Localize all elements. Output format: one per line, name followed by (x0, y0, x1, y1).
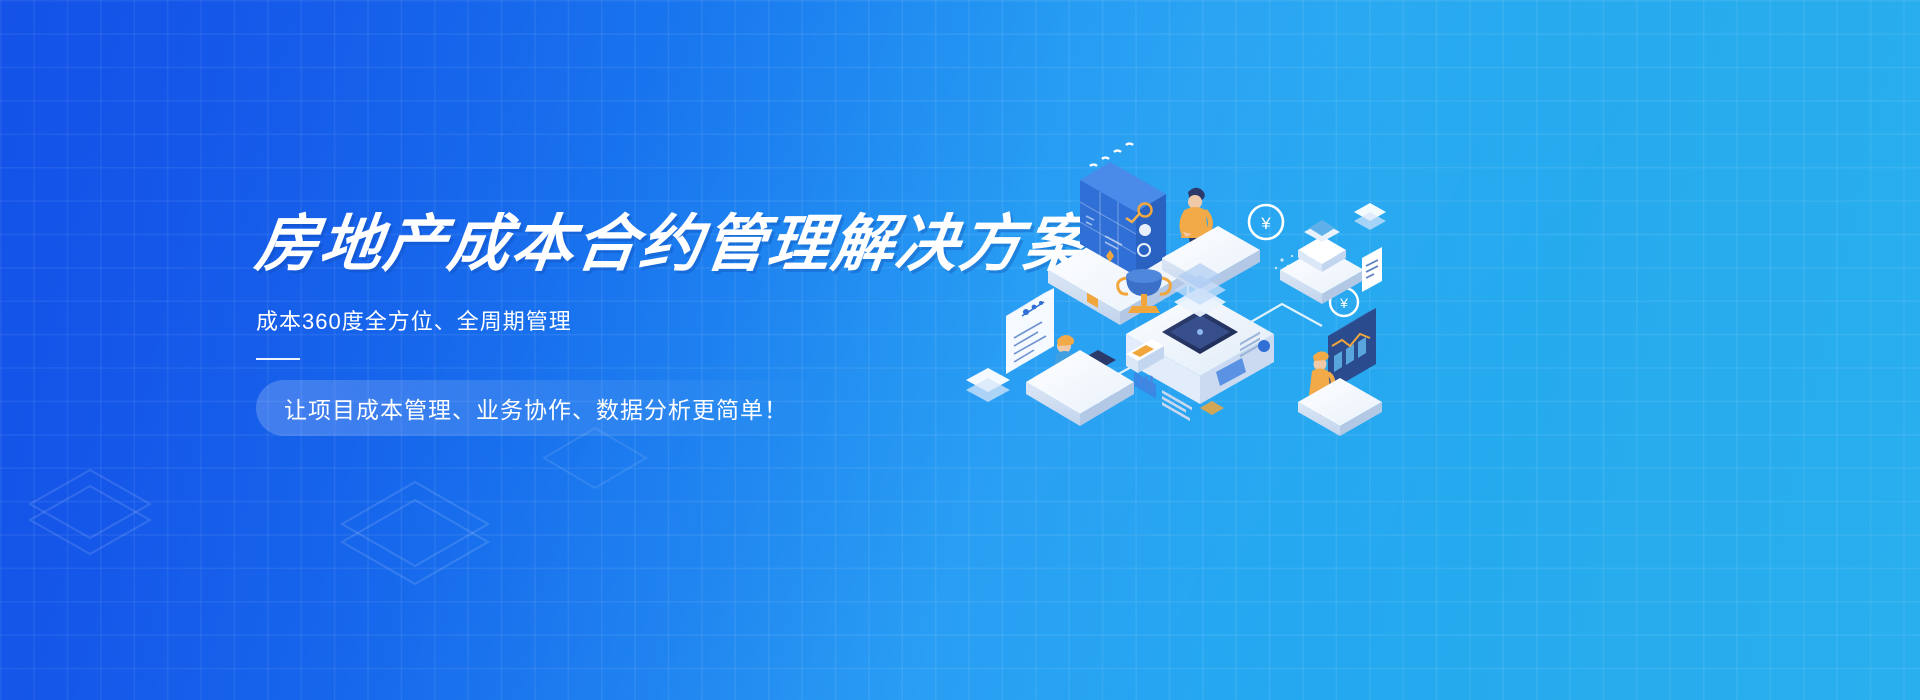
document-card (1362, 247, 1382, 292)
hero-illustration: ¥ ¥ ¥ (930, 150, 1400, 440)
plate-laptop-person (1026, 350, 1134, 426)
title-divider (256, 358, 300, 360)
page-title: 房地产成本合约管理解决方案 (252, 214, 1020, 276)
chart-screen (1328, 308, 1376, 392)
hero-banner: 房地产成本合约管理解决方案 成本360度全方位、全周期管理 让项目成本管理、业务… (0, 0, 1920, 700)
svg-text:¥: ¥ (1339, 295, 1348, 311)
document-card-left (1006, 288, 1054, 374)
decorative-diamond-plate-center (330, 470, 520, 610)
coin-yuan: ¥ (1249, 205, 1283, 239)
decorative-diamond-plate-left (20, 460, 180, 580)
svg-text:¥: ¥ (1260, 214, 1271, 233)
hero-text-block: 房地产成本合约管理解决方案 成本360度全方位、全周期管理 让项目成本管理、业务… (256, 214, 1016, 360)
tagline-badge: 让项目成本管理、业务协作、数据分析更简单！ (256, 380, 822, 436)
stacked-device-upper-right (1275, 220, 1364, 304)
page-subtitle: 成本360度全方位、全周期管理 (256, 304, 1016, 336)
